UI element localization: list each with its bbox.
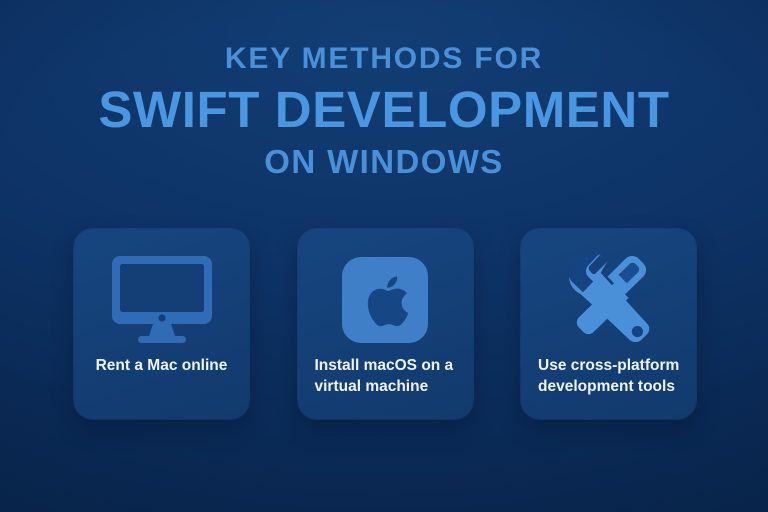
title-line-1: KEY METHODS FOR [0, 44, 768, 74]
method-card-label: Use cross-platform development tools [534, 356, 683, 397]
method-card-label: Rent a Mac online [87, 356, 236, 377]
apple-logo-icon [342, 246, 428, 354]
title-line-2: SWIFT DEVELOPMENT [0, 80, 768, 140]
title-line-3: ON WINDOWS [0, 145, 768, 178]
infographic-canvas: KEY METHODS FOR SWIFT DEVELOPMENT ON WIN… [0, 0, 768, 512]
method-card-rent-a-mac[interactable]: Rent a Mac online [74, 229, 249, 419]
desktop-monitor-icon [110, 246, 214, 354]
method-card-list: Rent a Mac online Install macOS on a vir… [74, 229, 696, 419]
method-card-cross-platform-tools[interactable]: Use cross-platform development tools [521, 229, 696, 419]
method-card-install-macos[interactable]: Install macOS on a virtual machine [298, 229, 473, 419]
wrench-screwdriver-tools-icon [559, 246, 659, 354]
method-card-label: Install macOS on a virtual machine [311, 356, 460, 397]
page-title: KEY METHODS FOR SWIFT DEVELOPMENT ON WIN… [0, 44, 768, 178]
